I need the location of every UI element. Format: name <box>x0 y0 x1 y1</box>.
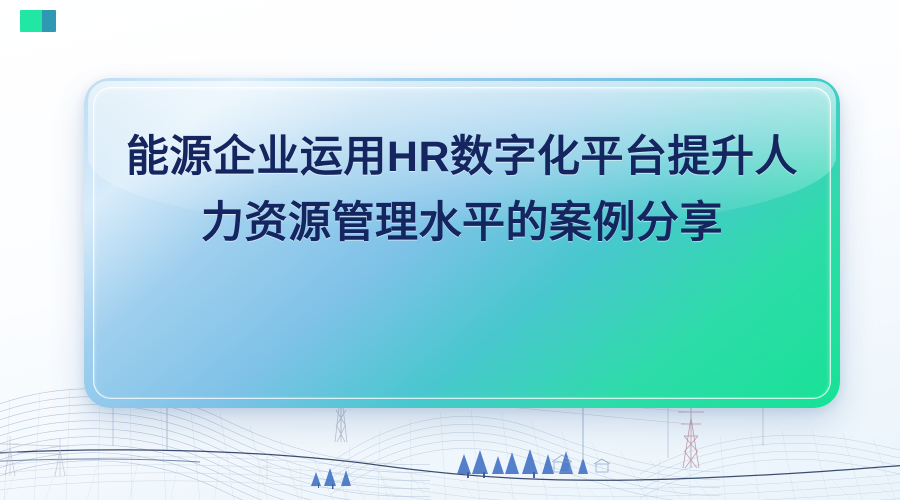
wave-decoration <box>93 206 831 399</box>
power-pylon <box>678 398 704 468</box>
card-inner-surface <box>93 87 831 399</box>
brand-mark-logo <box>20 10 56 32</box>
title-card: 能源企业运用HR数字化平台提升人 力资源管理水平的案例分享 <box>84 78 840 408</box>
slide-canvas: 能源企业运用HR数字化平台提升人 力资源管理水平的案例分享 <box>0 0 900 500</box>
brand-swatch-green <box>20 10 42 32</box>
brand-swatch-blue <box>42 10 56 32</box>
